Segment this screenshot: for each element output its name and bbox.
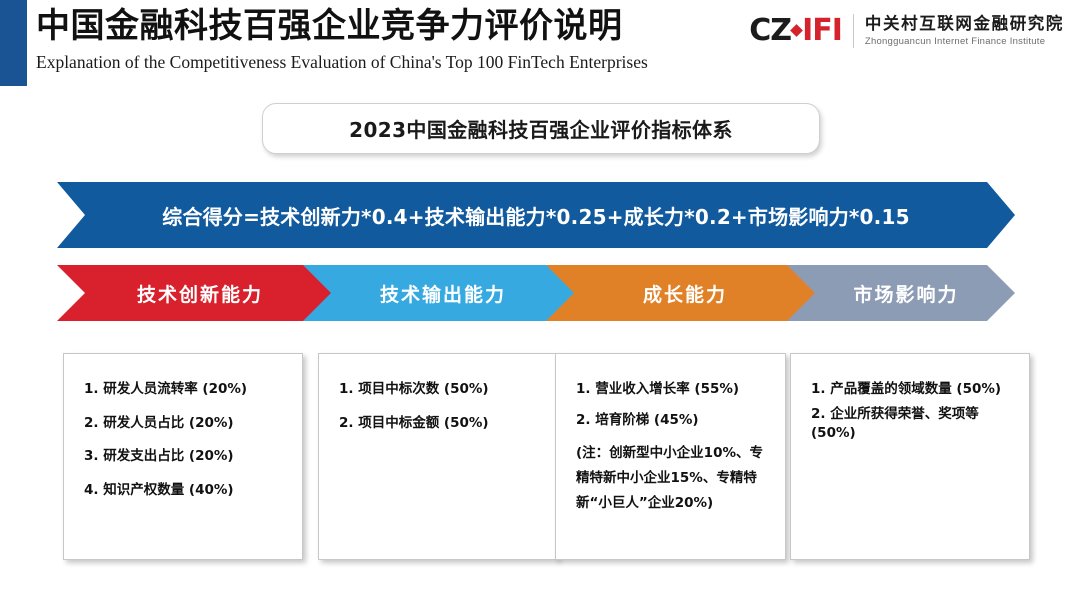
logo-divider bbox=[853, 14, 854, 48]
header-accent-bar bbox=[0, 0, 27, 86]
logo-wordmark-red: IFI bbox=[802, 16, 842, 46]
slide-canvas: 中国金融科技百强企业竞争力评价说明 Explanation of the Com… bbox=[0, 0, 1080, 608]
indicator-card-growth: 1. 营业收入增长率 (55%) 2. 培育阶梯 (45%) (注：创新型中小企… bbox=[555, 353, 786, 560]
header-title-group: 中国金融科技百强企业竞争力评价说明 Explanation of the Com… bbox=[36, 4, 736, 73]
page-title-cn: 中国金融科技百强企业竞争力评价说明 bbox=[36, 4, 736, 50]
logo-name-cn: 中关村互联网金融研究院 bbox=[865, 15, 1064, 34]
logo-name-group: 中关村互联网金融研究院 Zhongguancun Internet Financ… bbox=[865, 15, 1064, 47]
indicator-item: 1. 研发人员流转率 (20%) bbox=[84, 380, 288, 400]
indicator-item: 2. 项目中标金额 (50%) bbox=[339, 414, 543, 434]
logo-wordmark-dark: CZ bbox=[749, 16, 791, 46]
indicator-item: 2. 企业所获得荣誉、奖项等 (50%) bbox=[811, 405, 1015, 444]
page-title-en: Explanation of the Competitiveness Evalu… bbox=[36, 52, 736, 73]
indicator-item: 2. 研发人员占比 (20%) bbox=[84, 414, 288, 434]
pillar-chevron-market-influence[interactable]: 市场影响力 bbox=[785, 265, 1015, 321]
indicator-item: 1. 产品覆盖的领域数量 (50%) bbox=[811, 380, 1015, 400]
logo-name-en: Zhongguancun Internet Finance Institute bbox=[865, 36, 1064, 47]
pillar-label-4: 市场影响力 bbox=[841, 280, 958, 307]
indicator-item: 4. 知识产权数量 (40%) bbox=[84, 481, 288, 501]
indicator-item: 1. 项目中标次数 (50%) bbox=[339, 380, 543, 400]
pillar-chevron-growth[interactable]: 成长能力 bbox=[543, 265, 815, 321]
indicator-item: 2. 培育阶梯 (45%) bbox=[576, 411, 771, 431]
indicator-note: (注：创新型中小企业10%、专精特新中小企业15%、专精特新“小巨人”企业20%… bbox=[576, 441, 771, 516]
pillar-label-3: 成长能力 bbox=[631, 280, 727, 307]
section-title-text: 2023中国金融科技百强企业评价指标体系 bbox=[349, 114, 733, 143]
formula-chevron: 综合得分=技术创新力*0.4+技术输出能力*0.25+成长力*0.2+市场影响力… bbox=[57, 182, 1015, 248]
formula-text: 综合得分=技术创新力*0.4+技术输出能力*0.25+成长力*0.2+市场影响力… bbox=[162, 201, 909, 230]
pillar-chevron-tech-output[interactable]: 技术输出能力 bbox=[300, 265, 574, 321]
indicator-item: 3. 研发支出占比 (20%) bbox=[84, 447, 288, 467]
indicator-item: 1. 营业收入增长率 (55%) bbox=[576, 380, 771, 400]
pillar-chevron-tech-innovation[interactable]: 技术创新能力 bbox=[57, 265, 331, 321]
logo-wordmark-icon: CZ IFI bbox=[749, 16, 842, 46]
logo-diamond-icon bbox=[790, 24, 803, 37]
indicator-card-market-influence: 1. 产品覆盖的领域数量 (50%) 2. 企业所获得荣誉、奖项等 (50%) bbox=[790, 353, 1030, 560]
pillar-label-2: 技术输出能力 bbox=[368, 280, 506, 307]
pillar-label-1: 技术创新能力 bbox=[125, 280, 263, 307]
indicator-card-tech-innovation: 1. 研发人员流转率 (20%) 2. 研发人员占比 (20%) 3. 研发支出… bbox=[63, 353, 303, 560]
institute-logo: CZ IFI 中关村互联网金融研究院 Zhongguancun Internet… bbox=[749, 10, 1064, 52]
section-title-box: 2023中国金融科技百强企业评价指标体系 bbox=[262, 103, 820, 154]
indicator-card-tech-output: 1. 项目中标次数 (50%) 2. 项目中标金额 (50%) bbox=[318, 353, 558, 560]
